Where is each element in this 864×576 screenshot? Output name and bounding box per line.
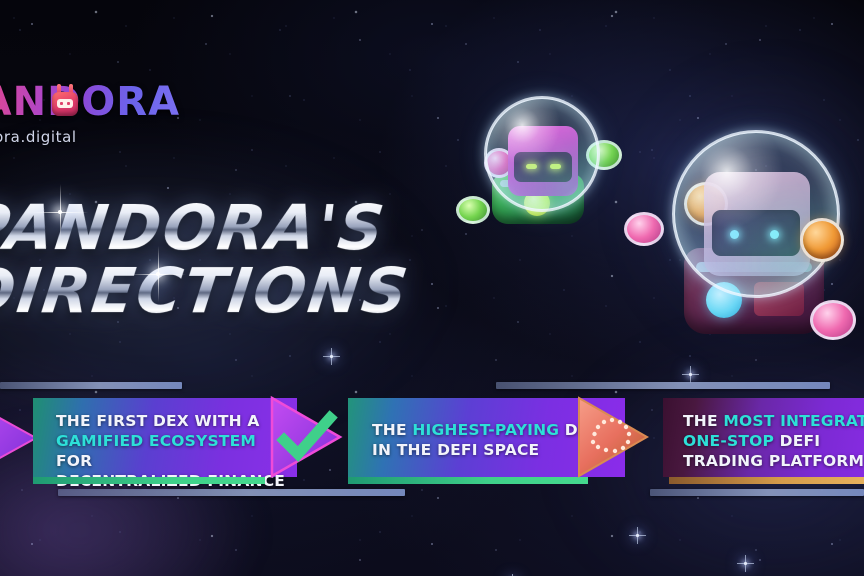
feature-cards-section: THE FIRST DEX WITH AGAMIFIED ECOSYSTEM F… <box>0 0 864 576</box>
plain-phrase: FOR <box>56 452 92 470</box>
plain-phrase: THE FIRST DEX WITH A <box>56 412 260 430</box>
card-bottom-accent <box>348 477 588 484</box>
highlighted-phrase: MOST INTEGRATED <box>723 412 864 430</box>
plain-phrase: TRADING PLATFORM <box>683 452 864 470</box>
decor-bar-top-left <box>0 382 182 389</box>
card-bottom-accent <box>669 477 864 484</box>
feature-card-gamified-ecosystem[interactable]: THE FIRST DEX WITH AGAMIFIED ECOSYSTEM F… <box>33 398 297 477</box>
card-text-line: TRADING PLATFORM <box>683 451 864 471</box>
highlighted-phrase: GAMIFIED ECOSYSTEM <box>56 432 256 450</box>
decor-bar-top-right <box>496 382 830 389</box>
card-text: THE MOST INTEGRATEDONE-STOP DEFITRADING … <box>683 411 864 471</box>
decor-bar-bottom-right <box>650 489 864 496</box>
plain-phrase: THE <box>372 421 412 439</box>
checkmark-icon[interactable] <box>264 390 350 484</box>
promotional-banner: PANDORA pandora.digital PANDORA'S DIRECT… <box>0 0 864 576</box>
card-bottom-accent <box>33 477 265 484</box>
plain-phrase: THE <box>683 412 723 430</box>
plain-phrase: DEFI <box>774 432 820 450</box>
card-text-line: THE FIRST DEX WITH A <box>56 411 288 431</box>
highlighted-phrase: HIGHEST-PAYING <box>412 421 559 439</box>
highlighted-phrase: ONE-STOP <box>683 432 774 450</box>
play-circle-icon[interactable] <box>571 390 657 484</box>
card-text-line: ONE-STOP DEFI <box>683 431 864 451</box>
plain-phrase: IN THE DEFI SPACE <box>372 441 539 459</box>
card-text-line: THE MOST INTEGRATED <box>683 411 864 431</box>
card-text-line: GAMIFIED ECOSYSTEM FOR <box>56 431 288 471</box>
feature-card-most-integrated[interactable]: THE MOST INTEGRATEDONE-STOP DEFITRADING … <box>663 398 864 477</box>
